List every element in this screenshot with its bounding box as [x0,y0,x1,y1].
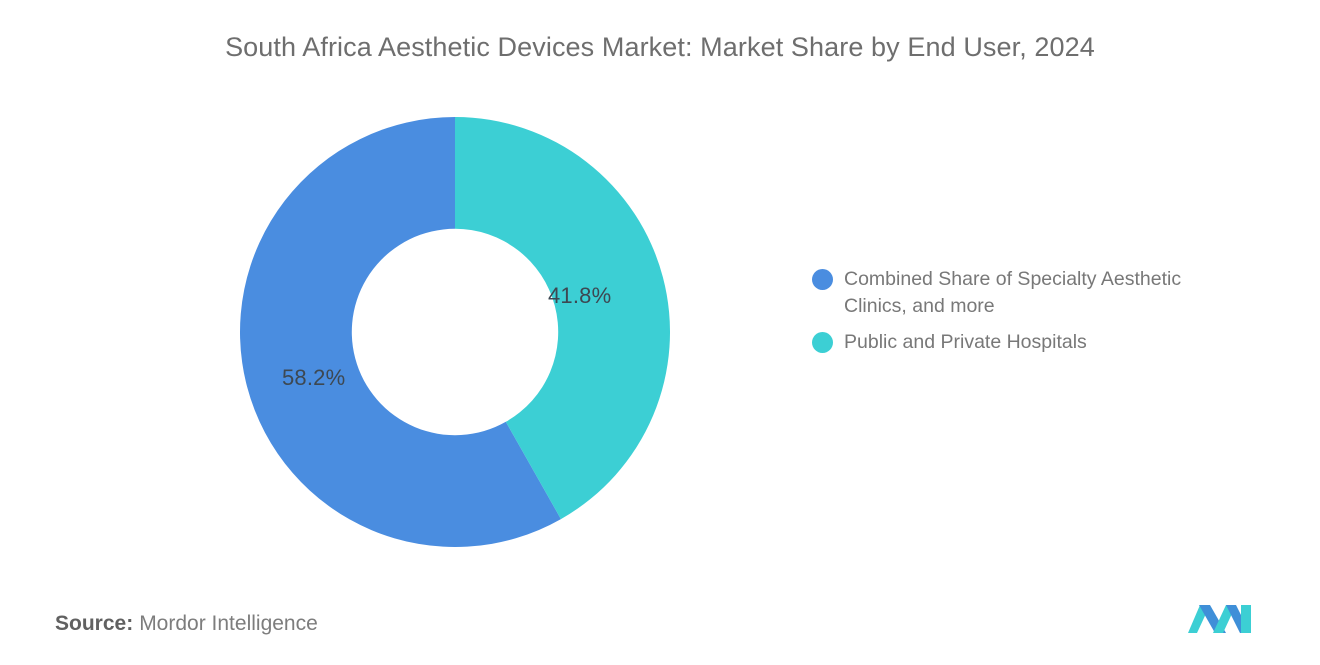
legend-color-swatch-icon [812,269,833,290]
source-label: Source: [55,612,133,635]
page-title: South Africa Aesthetic Devices Market: M… [0,32,1320,63]
slice-value-label-0: 58.2% [282,365,345,391]
legend-color-swatch-icon [812,332,833,353]
chart-legend: Combined Share of Specialty Aesthetic Cl… [812,266,1252,366]
slice-value-label-1: 41.8% [548,283,611,309]
legend-item-label: Combined Share of Specialty Aesthetic Cl… [844,266,1239,319]
mordor-intelligence-logo-icon [1186,599,1254,637]
source-attribution: Source:Mordor Intelligence [55,612,318,636]
legend-item-combined-share[interactable]: Combined Share of Specialty Aesthetic Cl… [812,266,1252,319]
legend-item-public-private-hospitals[interactable]: Public and Private Hospitals [812,329,1252,356]
donut-chart-svg [240,117,670,547]
legend-item-label: Public and Private Hospitals [844,329,1087,356]
donut-chart: 58.2% 41.8% [240,117,670,547]
source-value: Mordor Intelligence [139,612,318,635]
